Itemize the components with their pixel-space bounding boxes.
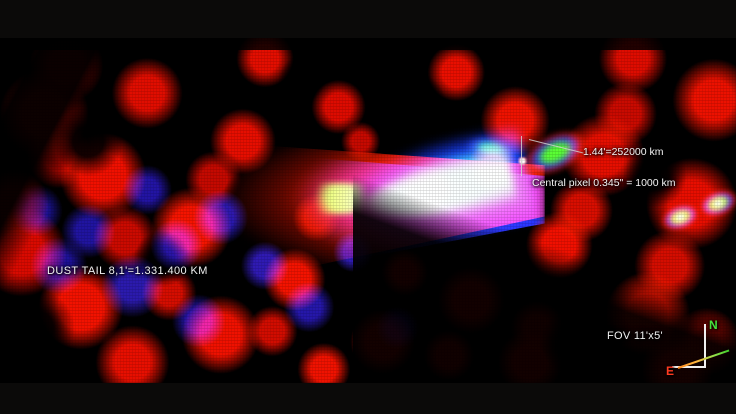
comet-nucleus [518, 157, 527, 165]
fov-annotation: FOV 11'x5' [607, 330, 663, 342]
compass-north-label: N [709, 318, 718, 332]
coma-scale-annotation: 1.44'=252000 km [583, 146, 664, 158]
photo-top-dark-strip [0, 38, 736, 50]
compass-east-label: E [666, 364, 674, 378]
compass-rose: N E [668, 320, 730, 380]
screenshot-root: Comet 3I/Atlas - 2025 December 15 - 02:2… [0, 0, 736, 414]
compass-north-axis [704, 324, 706, 368]
letterbox-top [0, 0, 736, 38]
central-pixel-annotation: Central pixel 0.345" = 1000 km [532, 177, 676, 189]
leader-line-central-pixel [521, 136, 522, 176]
letterbox-bottom [0, 383, 736, 414]
dust-tail-annotation: DUST TAIL 8,1'=1.331.400 KM [47, 265, 208, 277]
